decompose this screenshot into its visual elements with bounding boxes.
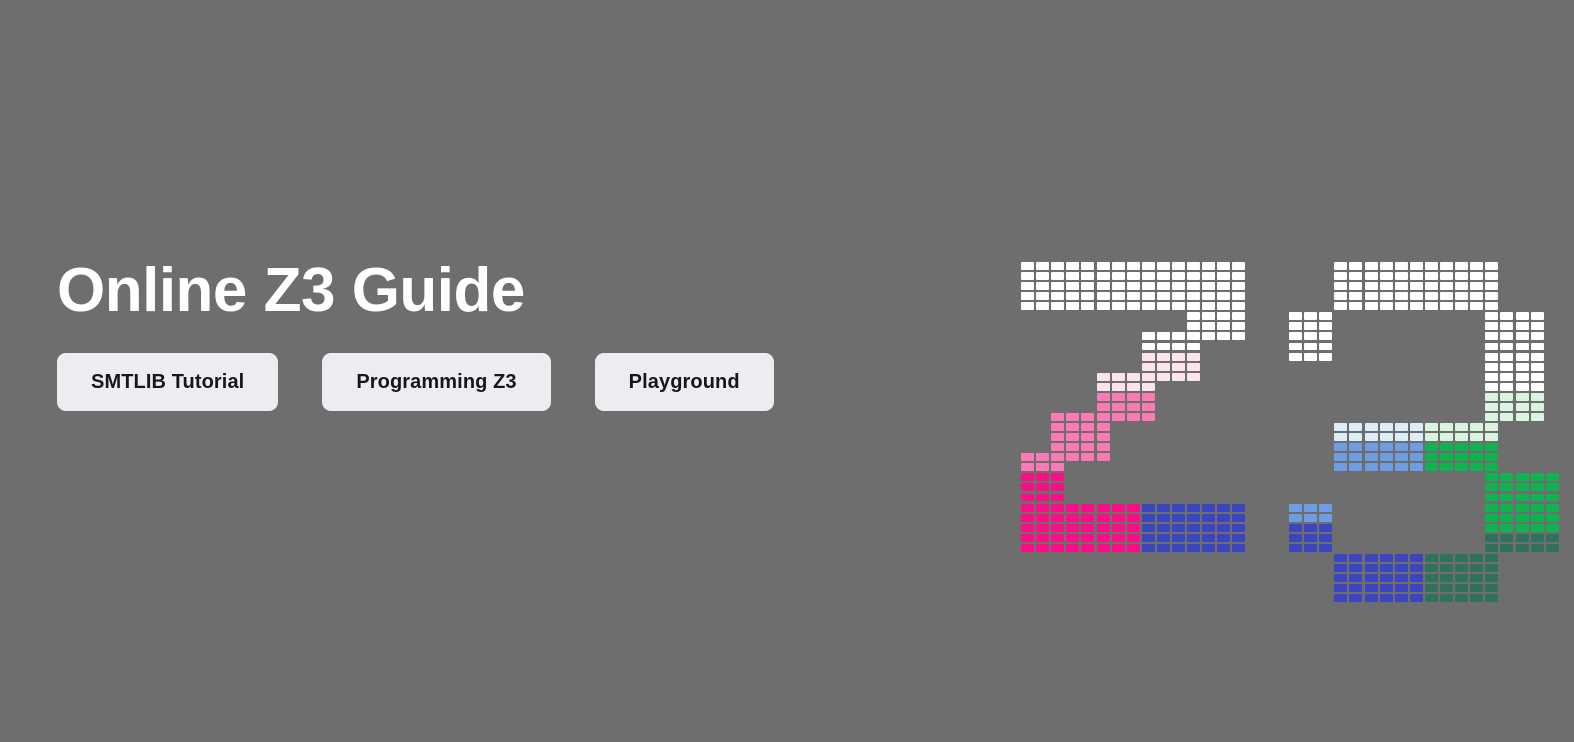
- logo-pixel: [1500, 514, 1513, 522]
- logo-pixel: [1546, 524, 1559, 532]
- logo-pixel: [1232, 322, 1245, 330]
- logo-pixel: [1395, 463, 1408, 471]
- logo-pixel: [1021, 453, 1034, 461]
- logo-pixel: [1500, 403, 1513, 411]
- logo-pixel: [1516, 373, 1529, 381]
- logo-pixel: [1410, 564, 1423, 572]
- logo-pixel: [1232, 534, 1245, 542]
- logo-pixel: [1021, 473, 1034, 481]
- logo-pixel: [1127, 514, 1140, 522]
- logo-pixel: [1172, 504, 1185, 512]
- logo-pixel: [1546, 544, 1559, 552]
- logo-pixel: [1187, 282, 1200, 290]
- logo-pixel: [1470, 302, 1483, 310]
- logo-pixel: [1440, 292, 1453, 300]
- logo-pixel: [1485, 453, 1498, 461]
- logo-pixel: [1395, 423, 1408, 431]
- logo-pixel: [1319, 544, 1332, 552]
- logo-pixel: [1202, 312, 1215, 320]
- logo-pixel: [1142, 373, 1155, 381]
- logo-pixel: [1187, 272, 1200, 280]
- logo-pixel: [1217, 524, 1230, 532]
- logo-pixel: [1380, 423, 1393, 431]
- logo-pixel: [1157, 504, 1170, 512]
- logo-pixel: [1349, 564, 1362, 572]
- logo-pixel: [1395, 564, 1408, 572]
- logo-pixel: [1395, 443, 1408, 451]
- logo-pixel: [1021, 534, 1034, 542]
- logo-pixel: [1304, 353, 1317, 361]
- logo-pixel: [1516, 332, 1529, 340]
- logo-pixel: [1187, 353, 1200, 361]
- logo-pixel: [1319, 514, 1332, 522]
- logo-pixel: [1127, 282, 1140, 290]
- logo-pixel: [1349, 292, 1362, 300]
- logo-pixel: [1380, 594, 1393, 602]
- logo-pixel: [1127, 413, 1140, 421]
- logo-pixel: [1066, 504, 1079, 512]
- logo-pixel: [1157, 534, 1170, 542]
- playground-button[interactable]: Playground: [595, 353, 774, 411]
- logo-pixel: [1410, 453, 1423, 461]
- logo-pixel: [1455, 443, 1468, 451]
- logo-pixel: [1232, 292, 1245, 300]
- logo-pixel: [1304, 544, 1317, 552]
- logo-pixel: [1202, 544, 1215, 552]
- logo-pixel: [1142, 393, 1155, 401]
- logo-pixel: [1172, 524, 1185, 532]
- logo-pixel: [1157, 282, 1170, 290]
- logo-pixel: [1485, 463, 1498, 471]
- logo-pixel: [1157, 514, 1170, 522]
- logo-pixel: [1334, 433, 1347, 441]
- logo-pixel: [1081, 272, 1094, 280]
- logo-pixel: [1051, 524, 1064, 532]
- logo-pixel: [1410, 433, 1423, 441]
- logo-pixel: [1485, 423, 1498, 431]
- logo-pixel: [1334, 594, 1347, 602]
- logo-pixel: [1217, 544, 1230, 552]
- logo-pixel: [1516, 343, 1529, 351]
- logo-pixel: [1500, 534, 1513, 542]
- logo-pixel: [1304, 343, 1317, 351]
- logo-pixel: [1485, 322, 1498, 330]
- logo-pixel: [1021, 282, 1034, 290]
- logo-pixel: [1425, 262, 1438, 270]
- logo-pixel: [1142, 544, 1155, 552]
- logo-pixel: [1097, 302, 1110, 310]
- logo-pixel: [1531, 524, 1544, 532]
- logo-pixel: [1470, 594, 1483, 602]
- logo-pixel: [1157, 343, 1170, 351]
- logo-pixel: [1232, 332, 1245, 340]
- logo-pixel: [1051, 433, 1064, 441]
- logo-pixel: [1066, 443, 1079, 451]
- logo-pixel: [1380, 554, 1393, 562]
- logo-pixel: [1232, 504, 1245, 512]
- logo-pixel: [1455, 574, 1468, 582]
- logo-pixel: [1066, 302, 1079, 310]
- logo-pixel: [1127, 302, 1140, 310]
- logo-pixel: [1455, 433, 1468, 441]
- logo-pixel: [1410, 272, 1423, 280]
- logo-pixel: [1289, 534, 1302, 542]
- logo-pixel: [1455, 423, 1468, 431]
- logo-pixel: [1410, 423, 1423, 431]
- logo-pixel: [1334, 453, 1347, 461]
- logo-pixel: [1066, 292, 1079, 300]
- logo-pixel: [1081, 262, 1094, 270]
- logo-pixel: [1081, 453, 1094, 461]
- logo-pixel: [1365, 282, 1378, 290]
- logo-pixel: [1051, 292, 1064, 300]
- logo-pixel: [1531, 383, 1544, 391]
- logo-pixel: [1531, 403, 1544, 411]
- logo-pixel: [1470, 443, 1483, 451]
- logo-pixel: [1425, 564, 1438, 572]
- logo-pixel: [1289, 353, 1302, 361]
- logo-pixel: [1455, 272, 1468, 280]
- logo-pixel: [1334, 292, 1347, 300]
- logo-pixel: [1470, 453, 1483, 461]
- logo-pixel: [1485, 534, 1498, 542]
- logo-pixel: [1380, 584, 1393, 592]
- logo-pixel: [1470, 554, 1483, 562]
- logo-pixel: [1485, 544, 1498, 552]
- logo-pixel: [1319, 353, 1332, 361]
- logo-pixel: [1440, 554, 1453, 562]
- programming-z3-button[interactable]: Programming Z3: [322, 353, 550, 411]
- logo-pixel: [1021, 544, 1034, 552]
- logo-pixel: [1485, 353, 1498, 361]
- logo-pixel: [1232, 302, 1245, 310]
- logo-pixel: [1516, 312, 1529, 320]
- logo-pixel: [1112, 544, 1125, 552]
- logo-pixel: [1425, 272, 1438, 280]
- logo-pixel: [1395, 453, 1408, 461]
- logo-pixel: [1395, 584, 1408, 592]
- logo-pixel: [1172, 514, 1185, 522]
- hero-button-group: SMTLIB Tutorial Programming Z3 Playgroun…: [57, 353, 957, 411]
- logo-pixel: [1334, 564, 1347, 572]
- logo-pixel: [1485, 373, 1498, 381]
- z3-pixel-logo: [1021, 262, 1521, 582]
- logo-pixel: [1531, 473, 1544, 481]
- logo-pixel: [1425, 584, 1438, 592]
- logo-pixel: [1127, 524, 1140, 532]
- logo-pixel: [1036, 272, 1049, 280]
- logo-pixel: [1485, 483, 1498, 491]
- logo-pixel: [1097, 262, 1110, 270]
- logo-pixel: [1232, 272, 1245, 280]
- logo-pixel: [1516, 534, 1529, 542]
- logo-pixel: [1142, 524, 1155, 532]
- logo-pixel: [1127, 272, 1140, 280]
- logo-pixel: [1319, 534, 1332, 542]
- logo-pixel: [1112, 413, 1125, 421]
- logo-pixel: [1097, 534, 1110, 542]
- logo-pixel: [1531, 413, 1544, 421]
- logo-pixel: [1232, 514, 1245, 522]
- logo-pixel: [1485, 494, 1498, 502]
- logo-pixel: [1500, 544, 1513, 552]
- logo-pixel: [1081, 524, 1094, 532]
- logo-pixel: [1395, 574, 1408, 582]
- logo-pixel: [1531, 343, 1544, 351]
- logo-pixel: [1081, 443, 1094, 451]
- logo-pixel: [1217, 534, 1230, 542]
- logo-pixel: [1051, 494, 1064, 502]
- logo-pixel: [1485, 343, 1498, 351]
- logo-pixel: [1187, 514, 1200, 522]
- logo-pixel: [1172, 534, 1185, 542]
- logo-pixel: [1485, 584, 1498, 592]
- logo-pixel: [1334, 262, 1347, 270]
- logo-pixel: [1157, 353, 1170, 361]
- logo-pixel: [1470, 292, 1483, 300]
- logo-pixel: [1036, 453, 1049, 461]
- logo-pixel: [1051, 423, 1064, 431]
- logo-pixel: [1500, 524, 1513, 532]
- logo-pixel: [1202, 282, 1215, 290]
- logo-pixel: [1217, 332, 1230, 340]
- logo-pixel: [1081, 282, 1094, 290]
- logo-pixel: [1142, 363, 1155, 371]
- logo-pixel: [1217, 302, 1230, 310]
- logo-pixel: [1531, 544, 1544, 552]
- logo-pixel: [1157, 544, 1170, 552]
- logo-pixel: [1531, 363, 1544, 371]
- logo-pixel: [1187, 332, 1200, 340]
- logo-pixel: [1380, 302, 1393, 310]
- logo-pixel: [1531, 322, 1544, 330]
- logo-pixel: [1112, 403, 1125, 411]
- logo-pixel: [1455, 564, 1468, 572]
- logo-pixel: [1485, 413, 1498, 421]
- logo-pixel: [1051, 463, 1064, 471]
- logo-pixel: [1217, 282, 1230, 290]
- logo-pixel: [1455, 584, 1468, 592]
- logo-pixel: [1097, 383, 1110, 391]
- logo-pixel: [1202, 272, 1215, 280]
- logo-pixel: [1036, 262, 1049, 270]
- logo-pixel: [1455, 302, 1468, 310]
- logo-pixel: [1380, 443, 1393, 451]
- logo-pixel: [1081, 514, 1094, 522]
- logo-pixel: [1410, 282, 1423, 290]
- logo-pixel: [1410, 574, 1423, 582]
- logo-pixel: [1485, 473, 1498, 481]
- logo-pixel: [1349, 594, 1362, 602]
- logo-pixel: [1516, 494, 1529, 502]
- logo-pixel: [1202, 504, 1215, 512]
- logo-pixel: [1187, 292, 1200, 300]
- logo-pixel: [1349, 302, 1362, 310]
- logo-pixel: [1187, 322, 1200, 330]
- logo-pixel: [1334, 463, 1347, 471]
- logo-pixel: [1440, 282, 1453, 290]
- logo-pixel: [1516, 524, 1529, 532]
- logo-pixel: [1455, 262, 1468, 270]
- logo-pixel: [1516, 383, 1529, 391]
- logo-pixel: [1142, 282, 1155, 290]
- logo-pixel: [1066, 272, 1079, 280]
- logo-pixel: [1051, 282, 1064, 290]
- logo-pixel: [1334, 554, 1347, 562]
- logo-pixel: [1112, 302, 1125, 310]
- logo-pixel: [1112, 373, 1125, 381]
- logo-pixel: [1380, 433, 1393, 441]
- logo-pixel: [1365, 423, 1378, 431]
- logo-pixel: [1365, 433, 1378, 441]
- logo-pixel: [1380, 564, 1393, 572]
- logo-pixel: [1232, 524, 1245, 532]
- logo-pixel: [1172, 363, 1185, 371]
- logo-pixel: [1470, 423, 1483, 431]
- logo-pixel: [1097, 544, 1110, 552]
- logo-pixel: [1172, 373, 1185, 381]
- logo-pixel: [1304, 514, 1317, 522]
- logo-pixel: [1187, 302, 1200, 310]
- logo-pixel: [1365, 564, 1378, 572]
- logo-pixel: [1500, 363, 1513, 371]
- hero-text-block: Online Z3 Guide SMTLIB Tutorial Programm…: [57, 258, 957, 411]
- logo-pixel: [1187, 373, 1200, 381]
- page-title: Online Z3 Guide: [57, 258, 957, 323]
- logo-pixel: [1334, 443, 1347, 451]
- logo-pixel: [1232, 262, 1245, 270]
- logo-pixel: [1021, 504, 1034, 512]
- logo-pixel: [1021, 262, 1034, 270]
- logo-pixel: [1440, 463, 1453, 471]
- logo-pixel: [1440, 584, 1453, 592]
- logo-pixel: [1349, 443, 1362, 451]
- logo-pixel: [1319, 504, 1332, 512]
- logo-pixel: [1066, 514, 1079, 522]
- logo-pixel: [1410, 594, 1423, 602]
- logo-pixel: [1127, 292, 1140, 300]
- logo-pixel: [1485, 433, 1498, 441]
- logo-pixel: [1455, 292, 1468, 300]
- logo-pixel: [1500, 413, 1513, 421]
- logo-pixel: [1066, 453, 1079, 461]
- logo-pixel: [1334, 302, 1347, 310]
- logo-pixel: [1485, 403, 1498, 411]
- logo-pixel: [1500, 494, 1513, 502]
- logo-pixel: [1142, 534, 1155, 542]
- logo-pixel: [1097, 524, 1110, 532]
- logo-pixel: [1081, 423, 1094, 431]
- logo-pixel: [1142, 302, 1155, 310]
- logo-pixel: [1485, 524, 1498, 532]
- logo-pixel: [1440, 453, 1453, 461]
- logo-pixel: [1097, 393, 1110, 401]
- logo-pixel: [1021, 302, 1034, 310]
- logo-pixel: [1051, 504, 1064, 512]
- logo-pixel: [1485, 363, 1498, 371]
- logo-pixel: [1516, 393, 1529, 401]
- logo-pixel: [1217, 312, 1230, 320]
- logo-pixel: [1500, 343, 1513, 351]
- hero-section: Online Z3 Guide SMTLIB Tutorial Programm…: [0, 0, 1574, 742]
- logo-pixel: [1051, 453, 1064, 461]
- logo-pixel: [1516, 413, 1529, 421]
- logo-pixel: [1172, 343, 1185, 351]
- logo-pixel: [1081, 302, 1094, 310]
- logo-pixel: [1485, 594, 1498, 602]
- logo-pixel: [1127, 262, 1140, 270]
- logo-pixel: [1036, 524, 1049, 532]
- logo-pixel: [1066, 282, 1079, 290]
- logo-pixel: [1202, 332, 1215, 340]
- logo-pixel: [1380, 282, 1393, 290]
- logo-pixel: [1217, 504, 1230, 512]
- logo-pixel: [1127, 393, 1140, 401]
- logo-pixel: [1217, 292, 1230, 300]
- logo-pixel: [1097, 373, 1110, 381]
- logo-pixel: [1470, 433, 1483, 441]
- logo-pixel: [1500, 332, 1513, 340]
- logo-pixel: [1546, 494, 1559, 502]
- logo-pixel: [1380, 574, 1393, 582]
- logo-pixel: [1036, 463, 1049, 471]
- logo-pixel: [1202, 534, 1215, 542]
- logo-pixel: [1531, 332, 1544, 340]
- logo-pixel: [1112, 514, 1125, 522]
- logo-pixel: [1485, 332, 1498, 340]
- logo-pixel: [1425, 554, 1438, 562]
- logo-pixel: [1187, 262, 1200, 270]
- logo-pixel: [1036, 282, 1049, 290]
- logo-pixel: [1217, 322, 1230, 330]
- logo-pixel: [1395, 554, 1408, 562]
- logo-pixel: [1531, 483, 1544, 491]
- logo-pixel: [1440, 302, 1453, 310]
- logo-pixel: [1531, 373, 1544, 381]
- logo-pixel: [1516, 483, 1529, 491]
- logo-pixel: [1516, 473, 1529, 481]
- logo-pixel: [1500, 483, 1513, 491]
- logo-pixel: [1051, 302, 1064, 310]
- logo-pixel: [1440, 594, 1453, 602]
- logo-pixel: [1232, 544, 1245, 552]
- logo-pixel: [1127, 534, 1140, 542]
- logo-pixel: [1202, 292, 1215, 300]
- logo-pixel: [1051, 483, 1064, 491]
- logo-pixel: [1485, 504, 1498, 512]
- logo-pixel: [1531, 534, 1544, 542]
- logo-pixel: [1365, 554, 1378, 562]
- logo-pixel: [1485, 312, 1498, 320]
- logo-pixel: [1425, 433, 1438, 441]
- logo-pixel: [1410, 554, 1423, 562]
- logo-pixel: [1410, 463, 1423, 471]
- logo-pixel: [1112, 262, 1125, 270]
- logo-pixel: [1410, 292, 1423, 300]
- logo-pixel: [1500, 393, 1513, 401]
- logo-pixel: [1172, 282, 1185, 290]
- logo-pixel: [1066, 413, 1079, 421]
- logo-pixel: [1425, 574, 1438, 582]
- logo-pixel: [1349, 554, 1362, 562]
- logo-pixel: [1440, 272, 1453, 280]
- logo-pixel: [1142, 403, 1155, 411]
- logo-pixel: [1455, 554, 1468, 562]
- logo-pixel: [1036, 473, 1049, 481]
- logo-pixel: [1051, 514, 1064, 522]
- smtlib-tutorial-button[interactable]: SMTLIB Tutorial: [57, 353, 278, 411]
- logo-pixel: [1157, 373, 1170, 381]
